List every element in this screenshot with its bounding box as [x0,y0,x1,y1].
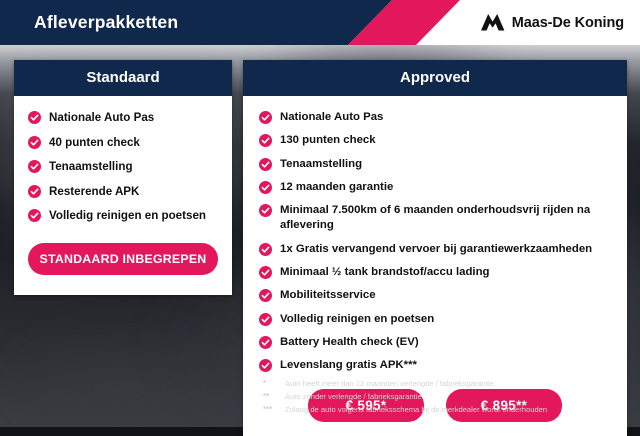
feature-item: Mobiliteitsservice [243,288,627,303]
maas-de-koning-m-logo-icon [481,14,505,31]
feature-item: Resterende APK [14,184,232,200]
footnote-row: *Auto heeft meer dan 12 maanden verlengd… [263,378,623,389]
check-circle-icon [259,158,272,171]
feature-item: Volledig reinigen en poetsen [243,312,627,327]
feature-item: 130 punten check [243,133,627,148]
feature-item: Tenaamstelling [14,159,232,175]
check-circle-icon [28,209,41,222]
approved-feature-list: Nationale Auto Pas130 punten checkTenaam… [243,96,627,373]
check-circle-icon [259,266,272,279]
feature-label: Resterende APK [49,184,139,200]
check-circle-icon [259,204,272,217]
feature-label: Nationale Auto Pas [280,110,383,125]
check-circle-icon [259,289,272,302]
footnote-text: Zolang de auto volgens fabrieksschema bi… [285,404,547,415]
page-title: Afleverpakketten [34,0,178,45]
check-circle-icon [28,160,41,173]
check-circle-icon [259,359,272,372]
brand-logo: Maas-De Koning [481,0,624,45]
feature-label: Volledig reinigen en poetsen [280,312,434,327]
feature-label: 40 punten check [49,135,140,151]
feature-item: Tenaamstelling [243,157,627,172]
feature-label: Mobiliteitsservice [280,288,376,303]
footnote-row: ***Zolang de auto volgens fabrieksschema… [263,404,623,415]
footnote-marker: ** [263,391,279,402]
check-circle-icon [259,243,272,256]
feature-item: 40 punten check [14,135,232,151]
feature-label: Minimaal 7.500km of 6 maanden onderhouds… [280,203,617,234]
check-circle-icon [259,336,272,349]
check-circle-icon [259,181,272,194]
feature-label: Nationale Auto Pas [49,110,154,126]
feature-item: Nationale Auto Pas [243,110,627,125]
feature-item: 1x Gratis vervangend vervoer bij garanti… [243,242,627,257]
feature-label: 130 punten check [280,133,376,148]
standard-card-title: Standaard [14,60,232,96]
check-circle-icon [28,111,41,124]
feature-label: Battery Health check (EV) [280,335,419,350]
footnote-text: Auto zonder verlengde / fabrieksgarantie [285,391,422,402]
approved-card-title: Approved [243,60,627,96]
feature-label: Volledig reinigen en poetsen [49,208,206,224]
feature-item: 12 maanden garantie [243,180,627,195]
footnote-marker: *** [263,404,279,415]
footnote-marker: * [263,378,279,389]
feature-item: Battery Health check (EV) [243,335,627,350]
check-circle-icon [259,134,272,147]
feature-item: Levenslang gratis APK*** [243,358,627,373]
standard-included-button[interactable]: STANDAARD INBEGREPEN [28,243,218,275]
feature-item: Volledig reinigen en poetsen [14,208,232,224]
standard-feature-list: Nationale Auto Pas40 punten checkTenaams… [14,96,232,224]
footnote-row: **Auto zonder verlengde / fabrieksgarant… [263,391,623,402]
feature-label: Levenslang gratis APK*** [280,358,417,373]
feature-label: Minimaal ½ tank brandstof/accu lading [280,265,490,280]
feature-label: Tenaamstelling [280,157,362,172]
feature-item: Minimaal ½ tank brandstof/accu lading [243,265,627,280]
feature-label: Tenaamstelling [49,159,133,175]
page-header: Afleverpakketten Maas-De Koning [0,0,640,45]
feature-label: 12 maanden garantie [280,180,393,195]
feature-item: Nationale Auto Pas [14,110,232,126]
brand-name: Maas-De Koning [512,15,624,31]
footnote-text: Auto heeft meer dan 12 maanden verlengde… [285,378,494,389]
check-circle-icon [259,313,272,326]
footnotes: *Auto heeft meer dan 12 maanden verlengd… [263,378,623,417]
check-circle-icon [28,136,41,149]
check-circle-icon [259,111,272,124]
feature-label: 1x Gratis vervangend vervoer bij garanti… [280,242,592,257]
feature-item: Minimaal 7.500km of 6 maanden onderhouds… [243,203,627,234]
standard-package-card: Standaard Nationale Auto Pas40 punten ch… [14,60,232,295]
check-circle-icon [28,185,41,198]
